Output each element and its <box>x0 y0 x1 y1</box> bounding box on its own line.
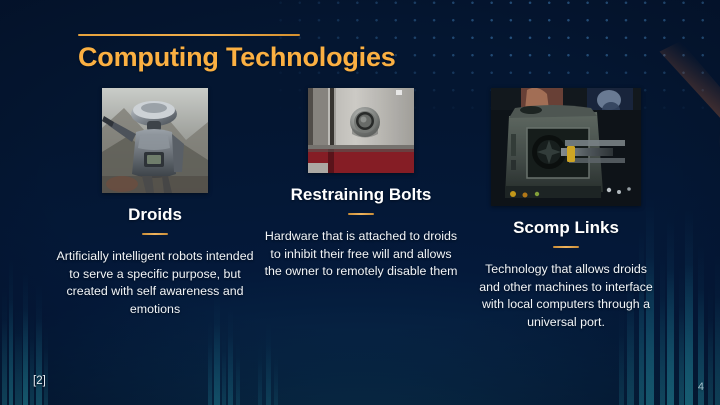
column-heading-droids: Droids <box>52 205 258 224</box>
column-heading-scomp-links: Scomp Links <box>464 218 668 237</box>
column-body-scomp-links: Technology that allows droids and other … <box>464 261 668 331</box>
page-number: 4 <box>698 381 704 393</box>
column-body-droids: Artificially intelligent robots intended… <box>52 248 258 318</box>
heading-rule-scomp-links <box>553 246 579 248</box>
page-title: Computing Technologies <box>78 42 396 73</box>
presentation-slide: Computing Technologies <box>0 0 720 405</box>
column-heading-restraining-bolts: Restraining Bolts <box>258 185 464 204</box>
content-column-restraining-bolts: Restraining Bolts Hardware that is attac… <box>258 88 464 281</box>
thumb-wrap-scomp-links <box>464 88 668 206</box>
thumb-wrap-droids <box>52 88 258 193</box>
restraining-bolt-photo <box>308 88 414 173</box>
content-column-scomp-links: Scomp Links Technology that allows droid… <box>464 88 668 331</box>
content-column-droids: Droids Artificially intelligent robots i… <box>52 88 258 318</box>
droid-photo <box>102 88 208 193</box>
thumb-wrap-restraining-bolts <box>258 88 464 173</box>
heading-rule-droids <box>142 233 168 235</box>
title-underline-rule <box>78 34 300 36</box>
citation-marker: [2] <box>33 375 46 387</box>
content-columns: Droids Artificially intelligent robots i… <box>52 88 668 398</box>
heading-rule-restraining-bolts <box>348 213 374 215</box>
column-body-restraining-bolts: Hardware that is attached to droids to i… <box>258 228 464 281</box>
scomp-link-photo <box>491 88 641 206</box>
